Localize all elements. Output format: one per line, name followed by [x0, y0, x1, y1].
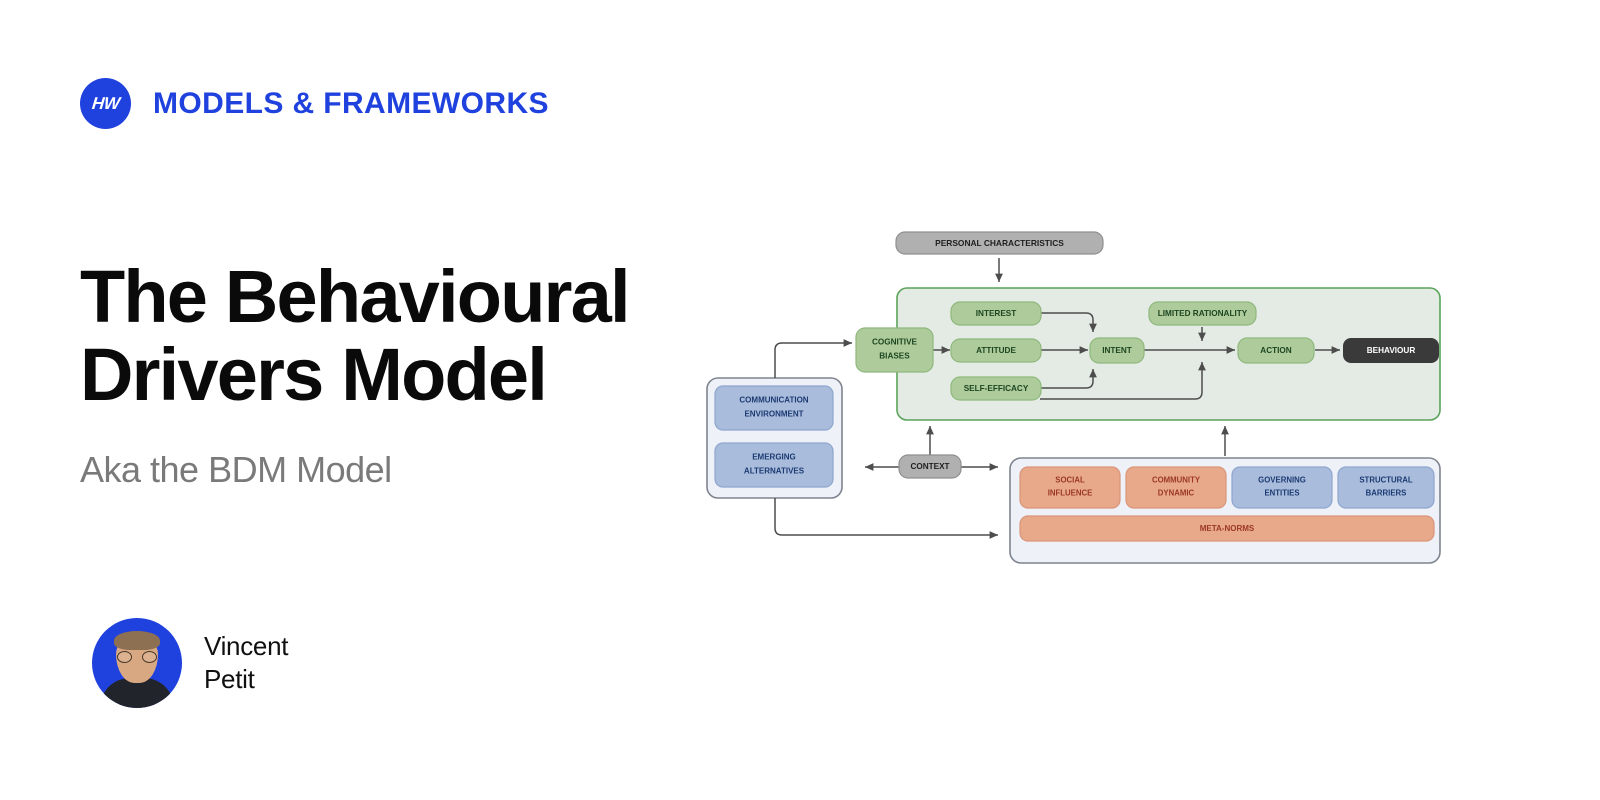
- node-behaviour[interactable]: BEHAVIOUR: [1343, 338, 1439, 363]
- author-byline: Vincent Petit: [92, 618, 288, 708]
- brand-category-label: MODELS & FRAMEWORKS: [153, 87, 549, 121]
- node-structural-barriers-label-line1: STRUCTURAL: [1359, 476, 1413, 485]
- node-governing-entities-label-line2: ENTITIES: [1264, 489, 1299, 498]
- node-communication-environment-label-line2: ENVIRONMENT: [744, 410, 803, 419]
- node-cognitive-biases[interactable]: COGNITIVE BIASES: [856, 328, 933, 372]
- node-self-efficacy[interactable]: SELF-EFFICACY: [951, 377, 1041, 400]
- node-cognitive-biases-label-line1: COGNITIVE: [872, 338, 918, 347]
- node-action-label: ACTION: [1260, 346, 1291, 355]
- diagram-svg: PERSONAL CHARACTERISTICS COGNITIVE BIASE…: [700, 210, 1460, 570]
- node-emerging-alternatives-label-line1: EMERGING: [752, 453, 796, 462]
- node-intent-label: INTENT: [1102, 346, 1132, 355]
- slide-canvas: HW MODELS & FRAMEWORKS The Behavioural D…: [0, 0, 1600, 800]
- arrow-environment-to-cognitive-biases: [775, 343, 852, 378]
- node-intent[interactable]: INTENT: [1090, 338, 1144, 363]
- author-last-name: Petit: [204, 663, 288, 696]
- node-personal-characteristics[interactable]: PERSONAL CHARACTERISTICS: [896, 232, 1103, 254]
- node-social-influence-label-line2: INFLUENCE: [1048, 489, 1093, 498]
- node-cognitive-biases-label-line2: BIASES: [879, 352, 910, 361]
- author-portrait-avatar: [92, 618, 182, 708]
- author-name: Vincent Petit: [204, 630, 288, 697]
- node-emerging-alternatives-label-line2: ALTERNATIVES: [744, 467, 805, 476]
- page-title-line-1: The Behavioural: [80, 258, 720, 336]
- node-limited-rationality[interactable]: LIMITED RATIONALITY: [1149, 302, 1256, 325]
- brand-header: HW MODELS & FRAMEWORKS: [80, 78, 549, 129]
- node-community-dynamic[interactable]: COMMUNITY DYNAMIC: [1126, 467, 1226, 508]
- hw-monogram-label: HW: [91, 94, 121, 114]
- page-title: The Behavioural Drivers Model: [80, 258, 720, 415]
- node-interest[interactable]: INTEREST: [951, 302, 1041, 325]
- arrow-environment-to-meta-norms: [775, 498, 998, 535]
- node-social-influence[interactable]: SOCIAL INFLUENCE: [1020, 467, 1120, 508]
- behavioural-drivers-model-diagram: PERSONAL CHARACTERISTICS COGNITIVE BIASE…: [700, 210, 1460, 570]
- node-community-dynamic-label-line1: COMMUNITY: [1152, 476, 1201, 485]
- node-context[interactable]: CONTEXT: [899, 455, 961, 478]
- node-communication-environment-label-line1: COMMUNICATION: [739, 396, 808, 405]
- node-behaviour-label: BEHAVIOUR: [1367, 346, 1416, 355]
- node-context-label: CONTEXT: [910, 462, 949, 471]
- node-meta-norms[interactable]: META-NORMS: [1020, 516, 1434, 541]
- avatar-glasses-icon: [116, 651, 158, 663]
- node-interest-label: INTEREST: [976, 309, 1017, 318]
- node-social-influence-label-line1: SOCIAL: [1055, 476, 1085, 485]
- node-structural-barriers[interactable]: STRUCTURAL BARRIERS: [1338, 467, 1434, 508]
- hw-monogram-icon: HW: [80, 78, 131, 129]
- node-action[interactable]: ACTION: [1238, 338, 1314, 363]
- node-emerging-alternatives[interactable]: EMERGING ALTERNATIVES: [715, 443, 833, 487]
- page-subtitle: Aka the BDM Model: [80, 449, 720, 491]
- node-communication-environment[interactable]: COMMUNICATION ENVIRONMENT: [715, 386, 833, 430]
- node-limited-rationality-label: LIMITED RATIONALITY: [1158, 309, 1248, 318]
- node-attitude-label: ATTITUDE: [976, 346, 1016, 355]
- node-self-efficacy-label: SELF-EFFICACY: [964, 384, 1029, 393]
- node-meta-norms-label: META-NORMS: [1200, 524, 1255, 533]
- node-governing-entities-label-line1: GOVERNING: [1258, 476, 1306, 485]
- node-personal-characteristics-label: PERSONAL CHARACTERISTICS: [935, 238, 1064, 248]
- title-block: The Behavioural Drivers Model Aka the BD…: [80, 258, 720, 491]
- avatar-hair-shape: [114, 631, 160, 650]
- node-governing-entities[interactable]: GOVERNING ENTITIES: [1232, 467, 1332, 508]
- node-community-dynamic-label-line2: DYNAMIC: [1158, 489, 1195, 498]
- node-structural-barriers-label-line2: BARRIERS: [1366, 489, 1407, 498]
- node-attitude[interactable]: ATTITUDE: [951, 339, 1041, 362]
- author-first-name: Vincent: [204, 630, 288, 663]
- page-title-line-2: Drivers Model: [80, 336, 720, 414]
